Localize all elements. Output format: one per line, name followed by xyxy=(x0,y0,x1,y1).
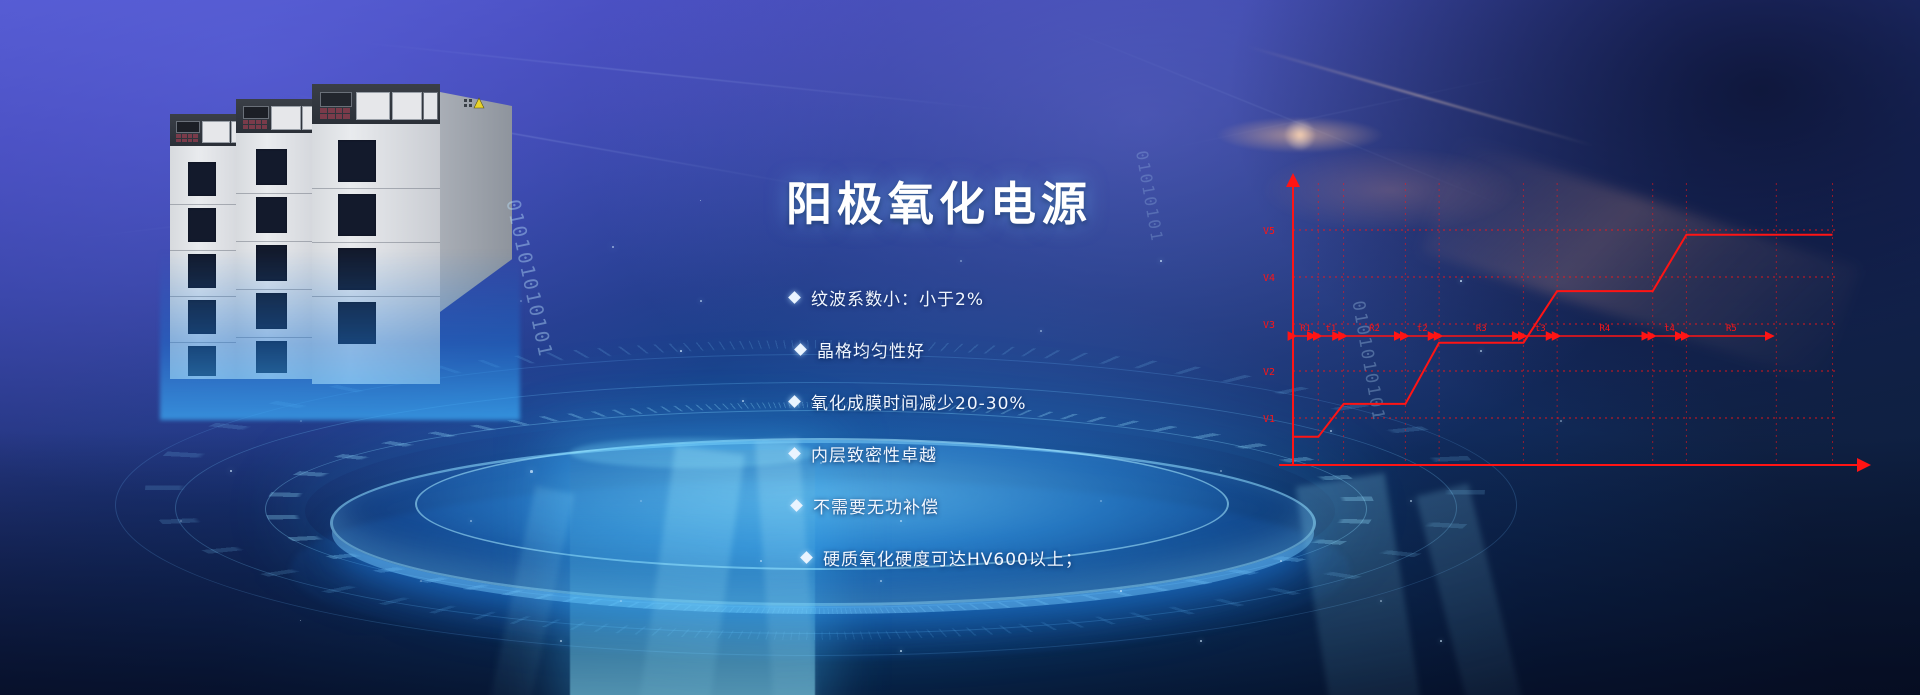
feature-list: 纹波系数小：小于2% 晶格均匀性好 氧化成膜时间减少20-30% 内层致密性卓越… xyxy=(790,285,1350,597)
list-item: 硬质氧化硬度可达HV600以上； xyxy=(802,545,1350,570)
y-tick-label: V5 xyxy=(1263,226,1275,237)
particle xyxy=(1160,260,1162,262)
cabinet-meter xyxy=(423,92,438,120)
particle xyxy=(612,246,614,248)
segment-label: t3 xyxy=(1535,324,1546,334)
list-item: 氧化成膜时间减少20-30% xyxy=(790,389,1350,414)
list-item: 纹波系数小：小于2% xyxy=(790,285,1350,310)
particle xyxy=(700,200,701,201)
segment-label: R2 xyxy=(1369,324,1380,334)
diamond-bullet-icon xyxy=(788,395,801,408)
diamond-bullet-icon xyxy=(788,291,801,304)
segment-label: t4 xyxy=(1664,324,1675,334)
list-item-label: 氧化成膜时间减少20-30% xyxy=(811,389,1027,414)
list-item-label: 内层致密性卓越 xyxy=(811,441,937,466)
warning-triangle-icon xyxy=(464,97,486,109)
cabinet-keypad[interactable] xyxy=(320,108,350,119)
y-tick-label: V4 xyxy=(1263,273,1275,284)
cabinet-display-screen xyxy=(320,92,352,107)
segment-label: R5 xyxy=(1726,324,1737,334)
particle xyxy=(960,260,962,262)
list-item-label: 纹波系数小：小于2% xyxy=(811,285,984,310)
particle xyxy=(700,300,702,302)
segment-label: R4 xyxy=(1599,324,1610,334)
binary-decoration: 01010101 xyxy=(1132,149,1167,244)
list-item-label: 硬质氧化硬度可达HV600以上； xyxy=(823,545,1083,570)
diamond-bullet-icon xyxy=(788,447,801,460)
particle xyxy=(520,300,522,302)
segment-label: t2 xyxy=(1417,324,1428,334)
list-item: 不需要无功补偿 xyxy=(792,493,1350,518)
diamond-bullet-icon xyxy=(790,499,803,512)
diamond-bullet-icon xyxy=(800,551,813,564)
anodizing-power-supply-banner: 010101010101 01010101 0101010101 V1V2V3V… xyxy=(0,0,1920,695)
page-title: 阳极氧化电源 xyxy=(786,168,1092,234)
cabinet-glow-fade xyxy=(160,250,520,420)
list-item: 晶格均匀性好 xyxy=(796,337,1350,362)
segment-label: R3 xyxy=(1476,324,1487,334)
list-item: 内层致密性卓越 xyxy=(790,441,1350,466)
list-item-label: 不需要无功补偿 xyxy=(813,493,939,518)
diamond-bullet-icon xyxy=(794,343,807,356)
list-item-label: 晶格均匀性好 xyxy=(817,337,925,362)
